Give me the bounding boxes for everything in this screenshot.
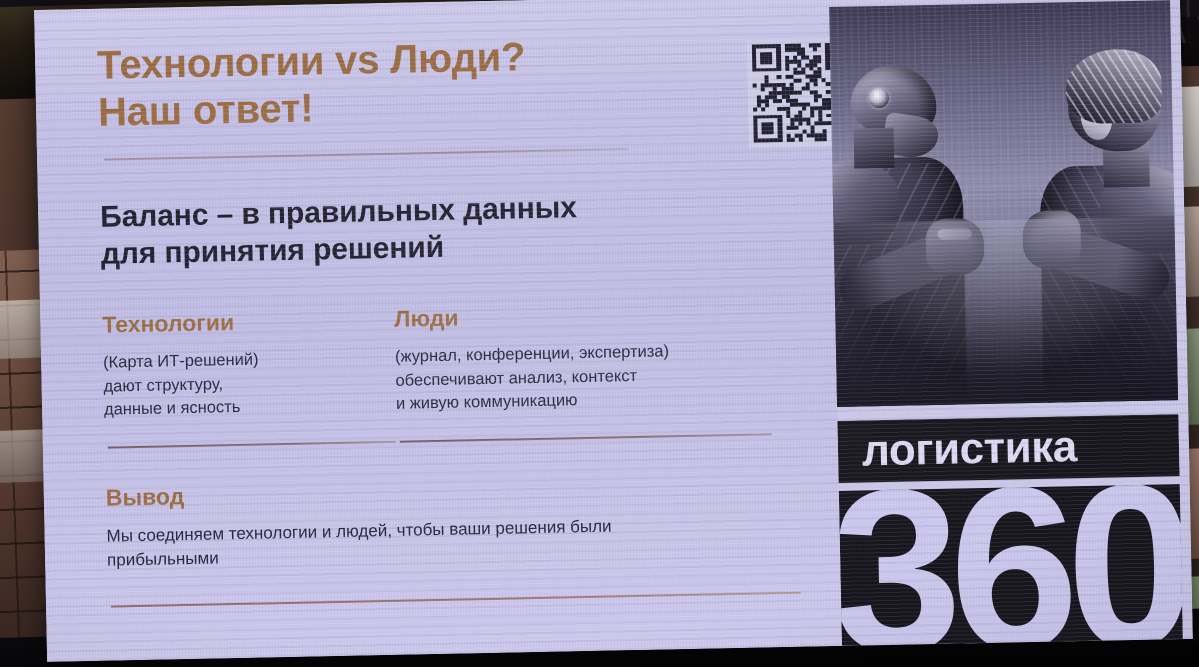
logo-wordmark: логистика: [862, 425, 1078, 473]
two-column-section: Технологии (Карта ИТ-решений) дают струк…: [102, 298, 813, 422]
outcome-body: Мы соединяем технологии и людей, чтобы в…: [106, 511, 747, 573]
photo-floor-glow: [833, 216, 1178, 407]
logo-number-block: 360 360: [839, 484, 1183, 646]
people-body-line-3: и живую коммуникацию: [396, 391, 578, 413]
subtitle: Баланс – в правильных данных для приняти…: [99, 146, 810, 273]
page-title: Технологии vs Люди? Наш ответ!: [96, 0, 807, 136]
column-technologies-divider: [108, 441, 396, 448]
robot-neck: [854, 128, 895, 169]
subtitle-line-2: для принятия решений: [101, 231, 445, 271]
led-screen: Технологии vs Люди? Наш ответ! Баланс – …: [34, 0, 1193, 662]
tech-body-line-2: дают структуру,: [103, 375, 223, 395]
column-people-divider: [400, 433, 772, 442]
outcome-body-line-1: Мы соединяем технологии и людей, чтобы в…: [106, 516, 611, 545]
people-body-line-1: (журнал, конференции, экспертиза): [395, 343, 669, 366]
slide-media-panel: логистика 360 360: [829, 0, 1193, 646]
photo-of-presentation-screen: Технологии vs Люди? Наш ответ! Баланс – …: [0, 0, 1199, 667]
title-line-2: Наш ответ!: [98, 86, 314, 134]
subtitle-line-1: Баланс – в правильных данных: [100, 191, 577, 234]
tech-body-line-3: данные и ясность: [104, 398, 241, 419]
column-people-heading: Люди: [394, 299, 779, 332]
outcome-body-line-2: прибыльными: [107, 549, 219, 570]
outcome-section: Вывод Мы соединяем технологии и людей, ч…: [106, 470, 817, 573]
slide: Технологии vs Люди? Наш ответ! Баланс – …: [34, 0, 1193, 662]
column-technologies-heading: Технологии: [102, 307, 394, 338]
robot-vs-human-photo: [829, 0, 1178, 407]
column-technologies-body: (Карта ИТ-решений) дают структуру, данны…: [103, 346, 396, 422]
human-hair: [1065, 48, 1162, 124]
column-people-body: (журнал, конференции, экспертиза) обеспе…: [395, 338, 781, 416]
slide-content-panel: Технологии vs Люди? Наш ответ! Баланс – …: [34, 0, 842, 662]
bottom-divider: [111, 592, 801, 607]
outcome-heading: Вывод: [106, 470, 815, 511]
logo-wordmark-band: логистика: [837, 414, 1179, 483]
column-technologies: Технологии (Карта ИТ-решений) дают струк…: [102, 307, 396, 422]
logo-number-primary: 360: [839, 484, 1183, 646]
people-body-line-2: обеспечивают анализ, контекст: [395, 367, 637, 390]
tech-body-line-1: (Карта ИТ-решений): [103, 351, 259, 372]
logistics-360-logo: логистика 360 360: [837, 414, 1182, 646]
column-people: Люди (журнал, конференции, экспертиза) о…: [394, 299, 781, 416]
title-line-1: Технологии vs Люди?: [97, 35, 526, 88]
